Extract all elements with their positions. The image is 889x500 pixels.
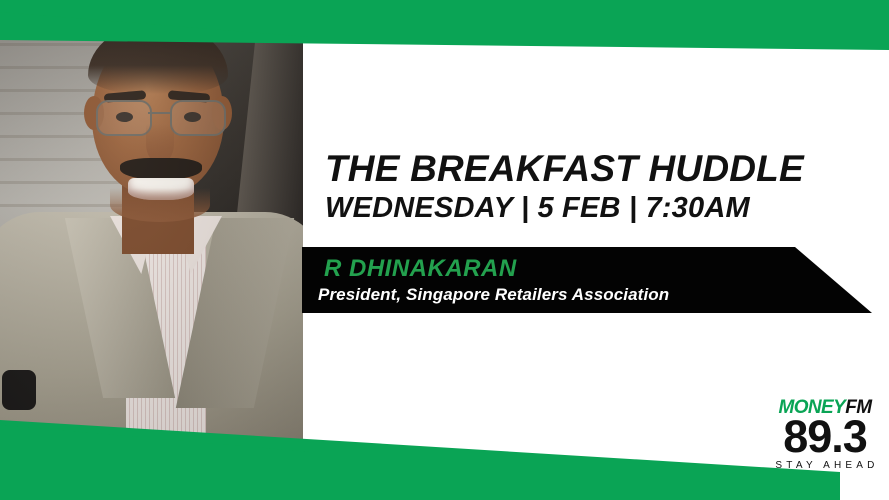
guest-name: R DHINAKARAN [324,255,517,283]
station-tagline: STAY AHEAD [768,460,882,471]
guest-name-banner: R DHINAKARAN President, Singapore Retail… [302,247,872,313]
guest-portrait-image [0,0,303,448]
promo-graphic: THE BREAKFAST HUDDLE WEDNESDAY | 5 FEB |… [0,0,889,500]
show-schedule: WEDNESDAY | 5 FEB | 7:30AM [325,194,885,223]
show-title: THE BREAKFAST HUDDLE [325,150,885,187]
station-logo: MONEYFM 89.3 STAY AHEAD [768,398,882,471]
photo-vignette [0,0,303,448]
headline-block: THE BREAKFAST HUDDLE WEDNESDAY | 5 FEB |… [325,150,885,223]
station-frequency: 89.3 [768,414,882,459]
guest-role: President, Singapore Retailers Associati… [318,285,669,305]
